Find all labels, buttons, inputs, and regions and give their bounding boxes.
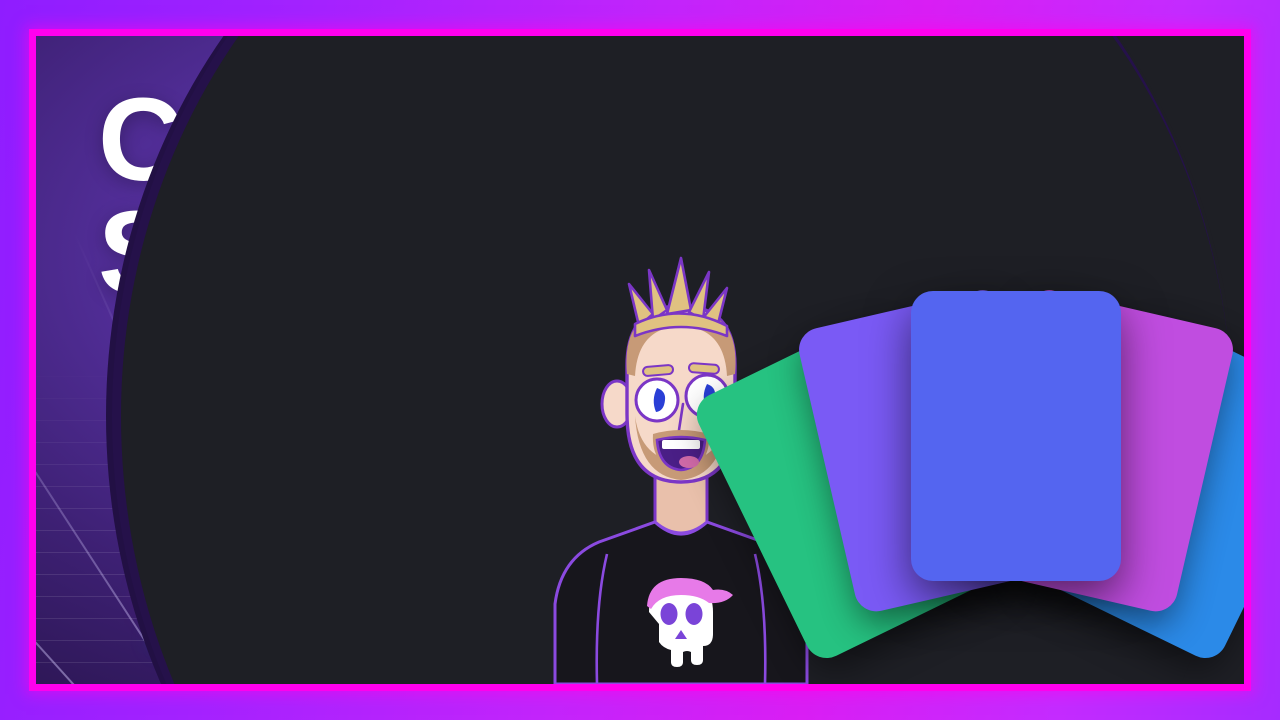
eyebrow-left [643, 365, 674, 377]
tongue [679, 456, 699, 468]
thumbnail-canvas: CARD STACK GUI CHALLENGES [0, 0, 1280, 720]
skull-eye-right [686, 603, 703, 625]
eye-left [636, 379, 678, 421]
card-blue-front[interactable] [911, 291, 1121, 581]
card-stack[interactable] [771, 251, 1244, 641]
eyebrow-right [689, 363, 720, 374]
skull-eye-left [661, 603, 678, 625]
mohawk-hair [629, 258, 727, 336]
teeth [662, 440, 700, 449]
stage: CARD STACK GUI CHALLENGES [36, 36, 1244, 684]
